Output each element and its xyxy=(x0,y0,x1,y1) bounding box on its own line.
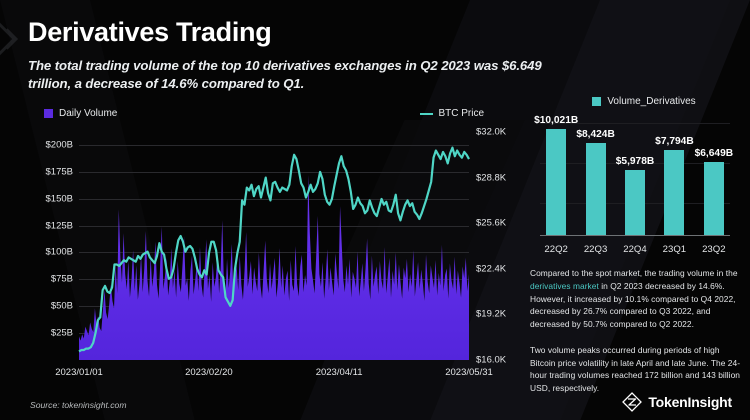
bar-value-label: $6,649B xyxy=(695,148,734,159)
y-axis-right-tick: $19.2K xyxy=(476,309,506,320)
right-panel: Volume_Derivatives $10,021B$8,424B$5,978… xyxy=(530,96,742,395)
x-axis-tick: 2023/04/11 xyxy=(316,367,363,378)
bar-value-label: $10,021B xyxy=(534,115,578,126)
note-1-pre: Compared to the spot market, the trading… xyxy=(530,268,738,278)
legend-swatch-icon xyxy=(44,109,53,118)
x-axis-tick: 2023/01/01 xyxy=(55,367,103,378)
bar-rect[interactable] xyxy=(546,129,566,235)
bar-category-label: 22Q4 xyxy=(619,244,651,255)
main-chart: Daily Volume BTC Price $25B$50B$75B$100B… xyxy=(22,108,522,396)
note-paragraph-1: Compared to the spot market, the trading… xyxy=(530,267,742,331)
x-axis-tick: 2023/05/31 xyxy=(445,367,493,378)
tokeninsight-logo-icon xyxy=(622,392,642,412)
bar-column[interactable]: $7,794B xyxy=(658,115,690,235)
bar-column[interactable]: $8,424B xyxy=(579,115,611,235)
bar-category-label: 22Q3 xyxy=(579,244,611,255)
bar-rect[interactable] xyxy=(586,143,606,235)
daily-volume-area xyxy=(79,175,469,360)
brand-name: TokenInsight xyxy=(648,394,732,410)
y-axis-left-tick: $200B xyxy=(46,139,73,150)
legend-line-icon xyxy=(420,113,433,115)
y-axis-right-tick: $32.0K xyxy=(476,127,506,138)
page-subtitle: The total trading volume of the top 10 d… xyxy=(28,57,588,94)
y-axis-right-tick: $22.4K xyxy=(476,263,506,274)
legend-label-daily-volume: Daily Volume xyxy=(59,108,117,119)
series-plot-svg xyxy=(79,132,469,360)
bar-category-label: 22Q2 xyxy=(540,244,572,255)
y-axis-left-tick: $150B xyxy=(46,193,73,204)
bar-rect[interactable] xyxy=(704,162,724,235)
main-plot-area: $25B$50B$75B$100B$125B$150B$175B$200B $1… xyxy=(22,126,522,374)
legend-daily-volume: Daily Volume xyxy=(44,108,117,119)
source-label: Source: tokeninsight.com xyxy=(30,400,127,410)
bar-rect[interactable] xyxy=(664,150,684,235)
header: Derivatives Trading The total trading vo… xyxy=(28,18,588,94)
bar-baseline xyxy=(540,235,730,236)
page-title: Derivatives Trading xyxy=(28,18,588,48)
y-axis-left-tick: $100B xyxy=(46,247,73,258)
infographic-canvas: Derivatives Trading The total trading vo… xyxy=(0,0,750,420)
legend-btc-price: BTC Price xyxy=(420,108,484,119)
note-1-highlight: derivatives market xyxy=(530,281,599,291)
main-plot: $25B$50B$75B$100B$125B$150B$175B$200B $1… xyxy=(79,132,469,360)
y-axis-left-tick: $50B xyxy=(51,301,73,312)
brand-lockup: TokenInsight xyxy=(622,392,732,412)
x-axis-tick: 2023/02/20 xyxy=(185,367,233,378)
y-axis-left-tick: $175B xyxy=(46,166,73,177)
y-axis-left-tick: $25B xyxy=(51,328,73,339)
y-axis-left-tick: $125B xyxy=(46,220,73,231)
bar-value-label: $5,978B xyxy=(616,156,655,167)
legend-label-btc-price: BTC Price xyxy=(438,108,484,119)
bar-category-label: 23Q2 xyxy=(698,244,730,255)
quarterly-bar-chart: $10,021B$8,424B$5,978B$7,794B$6,649B 22Q… xyxy=(530,115,742,257)
y-axis-left-tick: $75B xyxy=(51,274,73,285)
bar-column[interactable]: $10,021B xyxy=(540,115,572,235)
bar-group: $10,021B$8,424B$5,978B$7,794B$6,649B xyxy=(540,115,730,235)
bar-value-label: $8,424B xyxy=(576,129,615,140)
bar-category-label: 23Q1 xyxy=(658,244,690,255)
y-axis-right-tick: $28.8K xyxy=(476,172,506,183)
bar-value-label: $7,794B xyxy=(655,136,694,147)
legend-volume-derivatives: Volume_Derivatives xyxy=(546,96,742,107)
legend-swatch-icon xyxy=(592,97,601,106)
y-axis-right-tick: $25.6K xyxy=(476,218,506,229)
y-axis-right-tick: $16.0K xyxy=(476,355,506,366)
legend-label-volume-derivatives: Volume_Derivatives xyxy=(607,96,695,107)
bar-column[interactable]: $5,978B xyxy=(619,115,651,235)
bar-category-labels: 22Q222Q322Q423Q123Q2 xyxy=(540,244,730,255)
bar-rect[interactable] xyxy=(625,170,645,235)
bar-column[interactable]: $6,649B xyxy=(698,115,730,235)
note-paragraph-2: Two volume peaks occurred during periods… xyxy=(530,344,742,395)
